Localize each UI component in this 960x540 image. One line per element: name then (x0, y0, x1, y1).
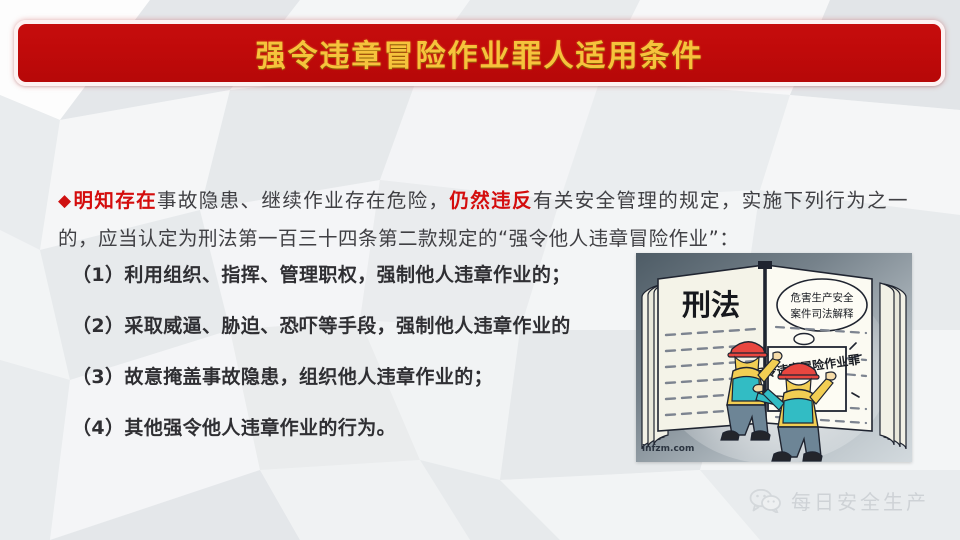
footer-brand: 每日安全生产 (748, 486, 929, 515)
slide-canvas: 强令违章冒险作业罪人适用条件 ◆明知存在事故隐患、继续作业存在危险，仍然违反有关… (0, 0, 960, 540)
wechat-icon (748, 489, 782, 513)
paragraph-segment-2: 事故隐患、继续作业存在危险， (157, 189, 449, 212)
bubble-line-2: 案件司法解释 (791, 307, 854, 320)
diamond-bullet-icon: ◆ (58, 191, 72, 211)
condition-list: （1）利用组织、指挥、管理职权，强制他人违章作业的； （2）采取威逼、胁迫、恐吓… (72, 250, 652, 454)
book-label-text: 刑法 (682, 288, 740, 322)
criminal-law-book-illustration: 刑法 危害生产安全 案件司法解释 (636, 253, 912, 462)
list-item: （4）其他强令他人违章作业的行为。 (72, 403, 652, 454)
list-item: （3）故意掩盖事故隐患，组织他人违章作业的； (72, 352, 652, 403)
list-item: （1）利用组织、指挥、管理职权，强制他人违章作业的； (72, 250, 652, 301)
highlight-known-existence: 明知存在 (73, 189, 157, 212)
footer-brand-label: 每日安全生产 (791, 486, 929, 515)
slide-title-bar: 强令违章冒险作业罪人适用条件 (14, 20, 945, 86)
illustration-watermark: infzm.com (642, 444, 694, 454)
page-title: 强令违章冒险作业罪人适用条件 (256, 31, 704, 75)
list-item: （2）采取威逼、胁迫、恐吓等手段，强制他人违章作业的 (72, 301, 652, 352)
highlight-still-violating: 仍然违反 (449, 189, 533, 212)
bubble-line-1: 危害生产安全 (791, 291, 854, 304)
intro-paragraph: ◆明知存在事故隐患、继续作业存在危险，仍然违反有关安全管理的规定，实施下列行为之… (58, 182, 908, 258)
